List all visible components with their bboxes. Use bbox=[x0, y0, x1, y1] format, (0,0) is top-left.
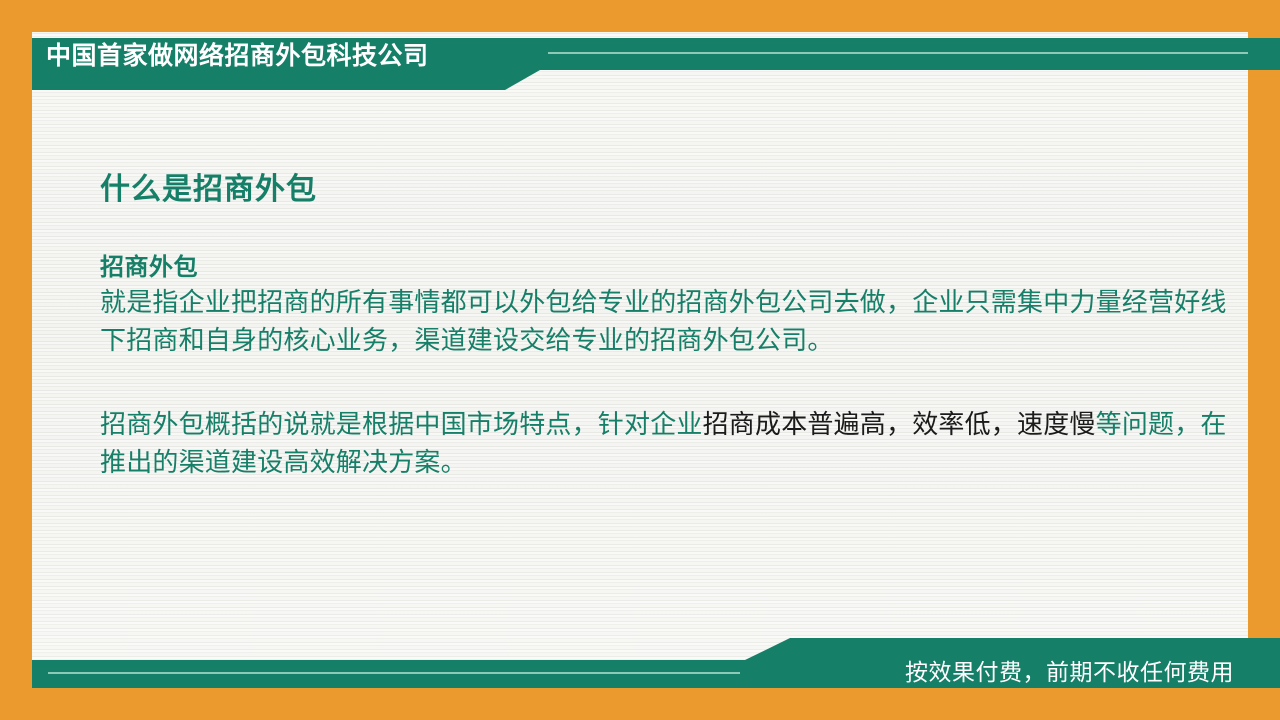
summary-emphasis: 招商成本普遍高，效率低，速度慢 bbox=[703, 409, 1096, 439]
footer-tagline: 按效果付费，前期不收任何费用 bbox=[905, 661, 1234, 684]
summary-paragraph: 招商外包概括的说就是根据中国市场特点，针对企业招商成本普遍高，效率低，速度慢等问… bbox=[100, 406, 1230, 482]
lead-term-label: 招商外包 bbox=[100, 252, 1230, 284]
header-title: 中国首家做网络招商外包科技公司 bbox=[46, 44, 429, 69]
content-area: 什么是招商外包 招商外包 就是指企业把招商的所有事情都可以外包给专业的招商外包公… bbox=[100, 172, 1230, 482]
summary-part-one: 招商外包概括的说就是根据中国市场特点，针对企业 bbox=[100, 409, 703, 439]
page-title: 什么是招商外包 bbox=[100, 172, 1230, 208]
definition-paragraph: 就是指企业把招商的所有事情都可以外包给专业的招商外包公司去做，企业只需集中力量经… bbox=[100, 284, 1230, 360]
paragraph-spacer bbox=[100, 360, 1230, 406]
slide: 中国首家做网络招商外包科技公司 什么是招商外包 招商外包 就是指企业把招商的所有… bbox=[0, 0, 1280, 720]
